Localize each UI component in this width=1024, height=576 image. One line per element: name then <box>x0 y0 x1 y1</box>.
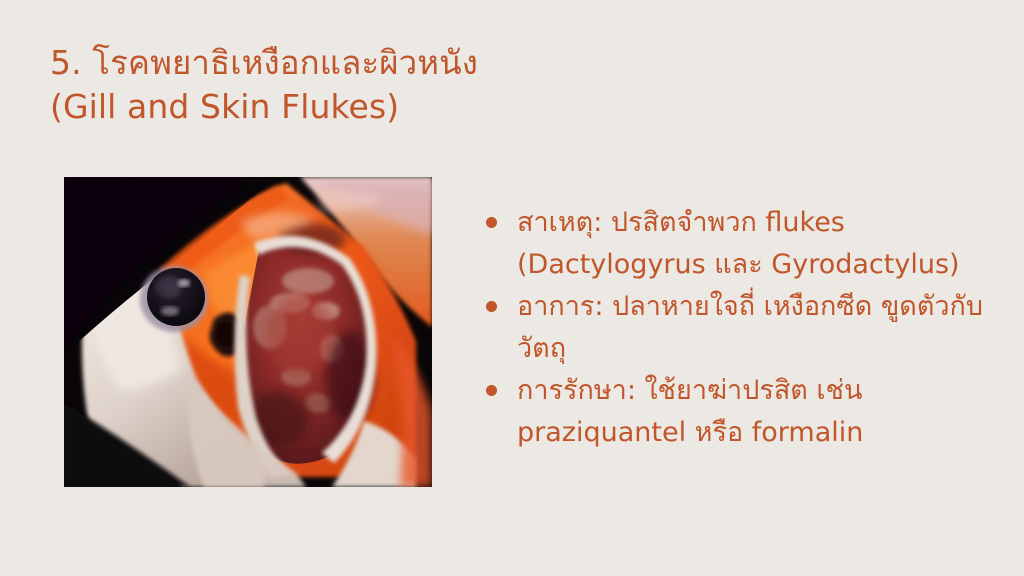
bullet-dot-icon <box>486 301 497 312</box>
list-item-label: อาการ: ปลาหายใจถี่ เหงือกซีด ขูดตัวกับวั… <box>517 286 1006 370</box>
list-item: การรักษา: ใช้ยาฆ่าปรสิต เช่น praziquante… <box>486 370 1006 454</box>
page-title-line-2: (Gill and Skin Flukes) <box>50 85 610 129</box>
bullet-list: สาเหตุ: ปรสิตจำพวก flukes (Dactylogyrus … <box>486 202 1006 454</box>
list-item: อาการ: ปลาหายใจถี่ เหงือกซีด ขูดตัวกับวั… <box>486 286 1006 370</box>
page-title-line-1: 5. โรคพยาธิเหงือกและผิวหนัง <box>50 41 610 85</box>
fish-gill-closeup-photo <box>64 177 432 487</box>
fish-photo-illustration <box>64 177 432 487</box>
page-title: 5. โรคพยาธิเหงือกและผิวหนัง (Gill and Sk… <box>50 41 610 129</box>
list-item: สาเหตุ: ปรสิตจำพวก flukes (Dactylogyrus … <box>486 202 1006 286</box>
list-item-label: การรักษา: ใช้ยาฆ่าปรสิต เช่น praziquante… <box>517 370 1006 454</box>
bullet-dot-icon <box>486 385 497 396</box>
list-item-label: สาเหตุ: ปรสิตจำพวก flukes (Dactylogyrus … <box>517 202 1006 286</box>
bullet-dot-icon <box>486 217 497 228</box>
slide-root: 5. โรคพยาธิเหงือกและผิวหนัง (Gill and Sk… <box>0 0 1024 576</box>
